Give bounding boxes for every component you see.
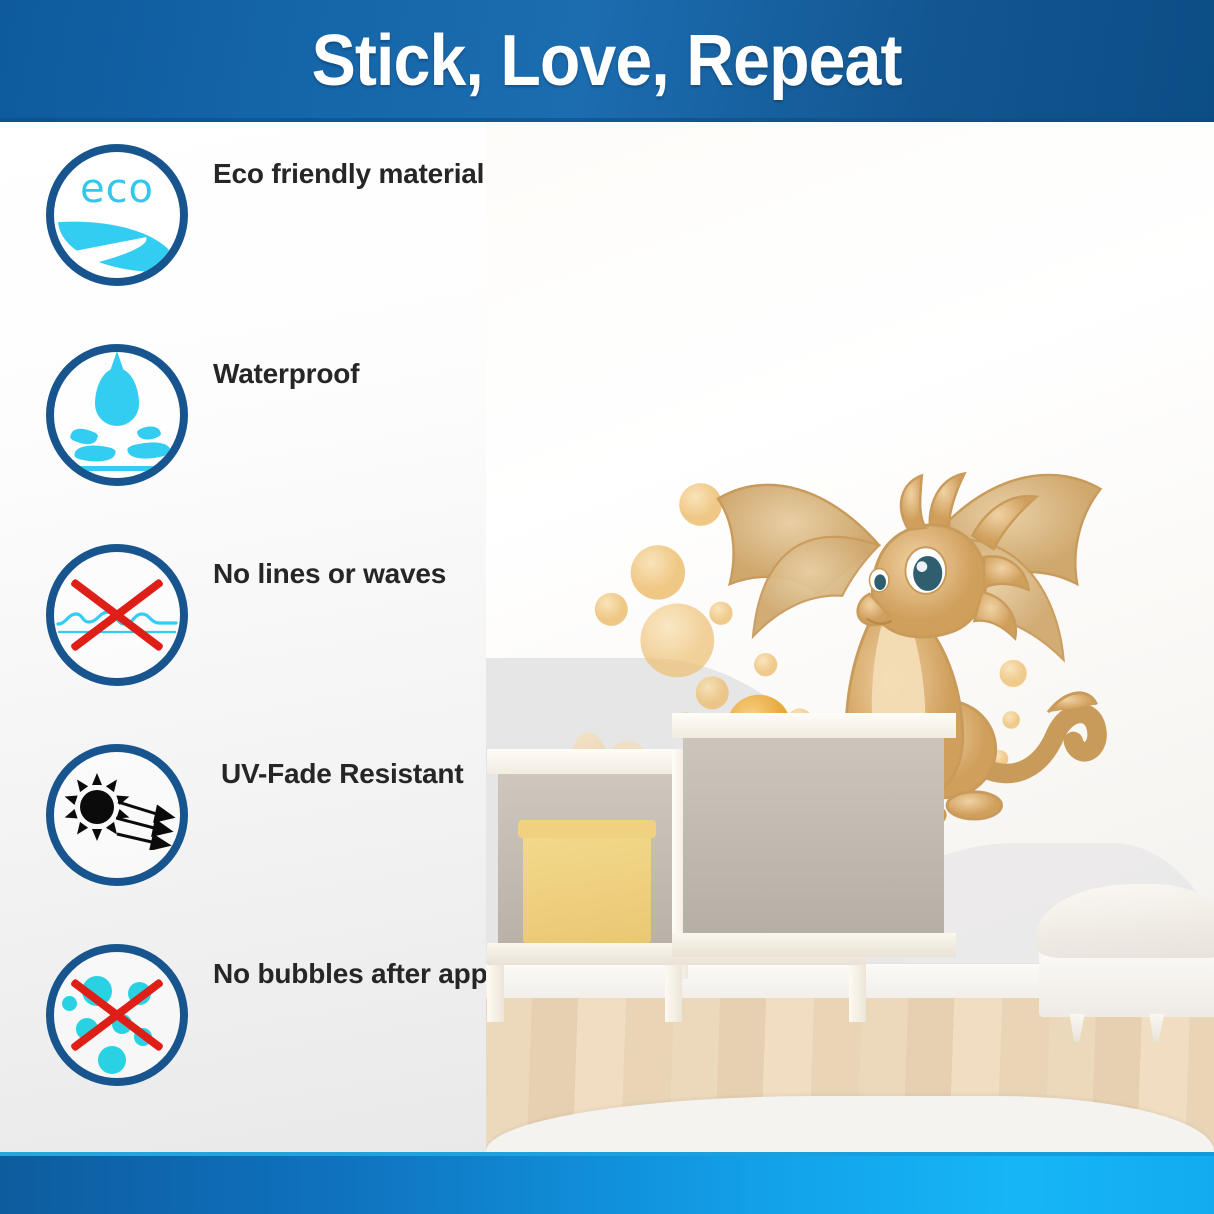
feature-label-waterproof: Waterproof [213,358,359,390]
feature-item-eco: eco Eco friendly material [0,144,486,344]
red-cross-overlay [54,952,180,1078]
splash-3 [127,438,172,463]
uv-sun-rays-icon [46,744,188,886]
splash-2 [74,442,116,466]
droplet-shape [95,368,139,426]
page-title: Stick, Love, Repeat [312,25,902,97]
surface-line [63,466,171,471]
bed-leg [1149,1014,1164,1042]
sun-core [80,790,114,824]
bed-leg [1070,1014,1085,1042]
eco-badge-text: eco [54,169,180,209]
feature-label-eco: Eco friendly material [213,158,484,190]
feature-item-no-bubbles: No bubbles after apply [0,944,486,1144]
feature-label-no-bubbles: No bubbles after apply [213,958,510,990]
footer-banner [0,1152,1214,1214]
eco-leaf-icon: eco [46,144,188,286]
shelf-cavity [683,738,944,933]
header-banner: Stick, Love, Repeat [0,0,1214,122]
eye [913,555,942,590]
main-content: eco Eco friendly material Waterproof [0,122,1214,1152]
uv-rays-arrows [116,796,178,850]
leaf-shape [58,214,180,280]
feature-label-no-waves: No lines or waves [213,558,446,590]
yellow-storage-bin-left [523,828,651,943]
tail [980,713,1097,773]
splash-4 [136,422,162,443]
shelf-bottom-board [672,933,956,958]
white-cube-shelf-right [672,713,956,1022]
feature-label-uv: UV-Fade Resistant [221,758,463,790]
room-preview-photo [486,122,1214,1152]
water-drop-icon [46,344,188,486]
shelf-top-board [672,713,956,738]
feature-item-waterproof: Waterproof [0,344,486,544]
features-panel: eco Eco friendly material Waterproof [0,122,486,1152]
no-bubbles-icon [46,944,188,1086]
duvet [1036,884,1214,958]
no-waves-icon [46,544,188,686]
feature-item-no-waves: No lines or waves [0,544,486,744]
bed-corner [1039,884,1214,1039]
feature-item-uv: UV-Fade Resistant [0,744,486,944]
red-cross-overlay [54,552,180,678]
